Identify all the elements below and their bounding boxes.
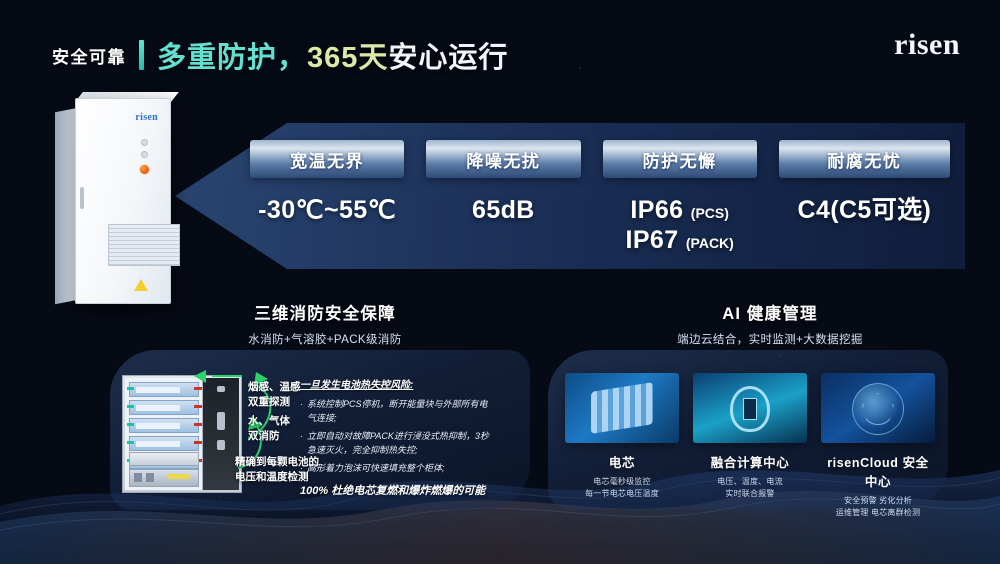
bullets-title: 一旦发生电池热失控风险:: [300, 376, 496, 391]
ai-card-subtitle: 电压、温度、电流 实时联合报警: [693, 476, 807, 501]
ai-card-cloud: risenCloud 安全中心 安全预警 劣化分析 运维管理 电芯离群检测: [821, 373, 935, 520]
rack-door-panel: [203, 378, 239, 490]
compute-center-thumb-icon: [693, 373, 807, 443]
spec-chip-label: 耐腐无忧: [827, 147, 901, 172]
ai-card-title: 电芯: [565, 452, 679, 471]
fire-section-subtitle: 水消防+气溶胶+PACK级消防: [160, 331, 490, 347]
annotation-smoke-temp-sensing: 烟感、温感双重探测: [248, 380, 301, 410]
headline-part-teal: 多重防护，: [157, 42, 307, 74]
rack-base-unit: [129, 469, 199, 487]
ai-card-list: 电芯 电芯毫秒级监控 每一节电芯电压温度 融合计算中心 电压、温度、电流 实时联…: [565, 373, 935, 520]
spec-chip: 防护无懈: [603, 140, 757, 178]
spec-value: C4(C5可选): [779, 196, 950, 226]
battery-module: [129, 400, 199, 415]
battery-module: [129, 436, 199, 451]
spec-item-corrosion: 耐腐无忧 C4(C5可选): [779, 140, 950, 255]
ai-section-heading: AI 健康管理 端边云结合，实时监测+大数据挖掘: [620, 300, 920, 347]
cabinet-handle-icon: [80, 187, 84, 209]
spec-item-temperature: 宽温无界 -30℃~55℃: [250, 140, 404, 255]
status-led-icon: [141, 151, 148, 158]
ai-section-subtitle: 端边云结合，实时监测+大数据挖掘: [620, 331, 920, 347]
fire-section-heading: 三维消防安全保障 水消防+气溶胶+PACK级消防: [160, 300, 490, 347]
cloud-network-thumb-icon: [821, 373, 935, 443]
bullet-item: ·立即自动对故障PACK进行浸没式热抑制，3秒急速灭火，完全抑制热失控;: [300, 430, 496, 458]
battery-module: [129, 418, 199, 433]
spec-value-line: IP67 (PACK): [603, 226, 757, 256]
ip-rating-pcs-note: (PCS): [691, 205, 729, 221]
spec-list: 宽温无界 -30℃~55℃ 降噪无扰 65dB 防护无懈 IP66 (PCS) …: [250, 140, 950, 255]
bullet-text: 高形着力泡沫可快速填充整个柜体;: [307, 462, 445, 476]
bullet-item: ·高形着力泡沫可快速填充整个柜体;: [300, 462, 496, 476]
spec-value: IP66 (PCS) IP67 (PACK): [603, 196, 757, 255]
headline-part-lime: 365天: [307, 42, 388, 74]
spec-chip-label: 降噪无扰: [466, 147, 540, 172]
ai-card-sub-line: 电压、温度、电流: [693, 476, 807, 488]
ai-card-subtitle: 安全预警 劣化分析 运维管理 电芯离群检测: [821, 495, 935, 520]
spec-value: 65dB: [426, 196, 580, 226]
battery-module: [129, 382, 199, 397]
spec-value: -30℃~55℃: [250, 196, 404, 226]
bullet-item: ·系统控制PCS停机，断开能量块与外部所有电气连接;: [300, 398, 496, 426]
cabinet-front-door: risen: [75, 98, 171, 304]
bullet-dot-icon: ·: [300, 398, 303, 426]
headline-part-white: 安心运行: [388, 42, 508, 74]
fire-section-title: 三维消防安全保障: [160, 300, 490, 324]
spec-item-ingress-protection: 防护无懈 IP66 (PCS) IP67 (PACK): [603, 140, 757, 255]
ai-card-sub-line: 每一节电芯电压温度: [565, 488, 679, 500]
ai-card-sub-line: 运维管理 电芯离群检测: [821, 507, 935, 519]
cabinet-vent-grille: [108, 224, 180, 266]
status-led-icon: [141, 139, 148, 146]
annotation-water-gas-suppression: 水、气体双消防: [248, 414, 290, 444]
header-eyebrow: 安全可靠: [52, 43, 126, 68]
ip-rating-pack: IP67: [625, 226, 678, 254]
ai-card-subtitle: 电芯毫秒级监控 每一节电芯电压温度: [565, 476, 679, 501]
ai-card-title: risenCloud 安全中心: [821, 452, 935, 490]
ip-rating-pcs: IP66: [630, 196, 683, 224]
bullets-footer: 100% 杜绝电芯复燃和爆炸燃爆的可能: [300, 482, 496, 498]
spec-chip: 耐腐无忧: [779, 140, 950, 178]
battery-rack-diagram: [122, 375, 242, 493]
bullet-text: 立即自动对故障PACK进行浸没式热抑制，3秒急速灭火，完全抑制热失控;: [307, 430, 496, 458]
bullet-text: 系统控制PCS停机，断开能量块与外部所有电气连接;: [307, 398, 496, 426]
rack-controller-unit: [129, 452, 199, 466]
spec-item-noise: 降噪无扰 65dB: [426, 140, 580, 255]
ai-card-compute-center: 融合计算中心 电压、温度、电流 实时联合报警: [693, 373, 807, 520]
spec-value-line: IP66 (PCS): [603, 196, 757, 226]
rack-module-column: [125, 378, 203, 490]
bullet-dot-icon: ·: [300, 462, 303, 476]
ai-card-title: 融合计算中心: [693, 452, 807, 471]
ip-rating-pack-note: (PACK): [686, 235, 734, 251]
warning-triangle-icon: [134, 279, 148, 291]
spec-chip-label: 宽温无界: [290, 147, 364, 172]
emergency-stop-icon: [139, 164, 150, 175]
product-cabinet-image: risen: [55, 98, 185, 310]
spec-chip: 降噪无扰: [426, 140, 580, 178]
thermal-runaway-bullets: 一旦发生电池热失控风险: ·系统控制PCS停机，断开能量块与外部所有电气连接; …: [300, 376, 496, 498]
ai-card-sub-line: 安全预警 劣化分析: [821, 495, 935, 507]
spec-chip-label: 防护无懈: [643, 147, 717, 172]
header: 安全可靠 多重防护，365天安心运行: [52, 34, 508, 76]
ai-card-cells: 电芯 电芯毫秒级监控 每一节电芯电压温度: [565, 373, 679, 520]
spec-chip: 宽温无界: [250, 140, 404, 178]
slide-root: 安全可靠 多重防护，365天安心运行 risen risen 宽温无界 -30℃…: [0, 0, 1000, 564]
ai-card-sub-line: 电芯毫秒级监控: [565, 476, 679, 488]
battery-cells-thumb-icon: [565, 373, 679, 443]
ai-section-title: AI 健康管理: [620, 300, 920, 324]
header-divider: [139, 40, 144, 70]
ai-card-sub-line: 实时联合报警: [693, 488, 807, 500]
bullet-dot-icon: ·: [300, 430, 303, 458]
page-title: 多重防护，365天安心运行: [157, 34, 508, 76]
cabinet-brand-icon: risen: [135, 112, 158, 123]
brand-logo: risen: [894, 28, 960, 62]
cabinet-side-panel: [55, 108, 77, 304]
